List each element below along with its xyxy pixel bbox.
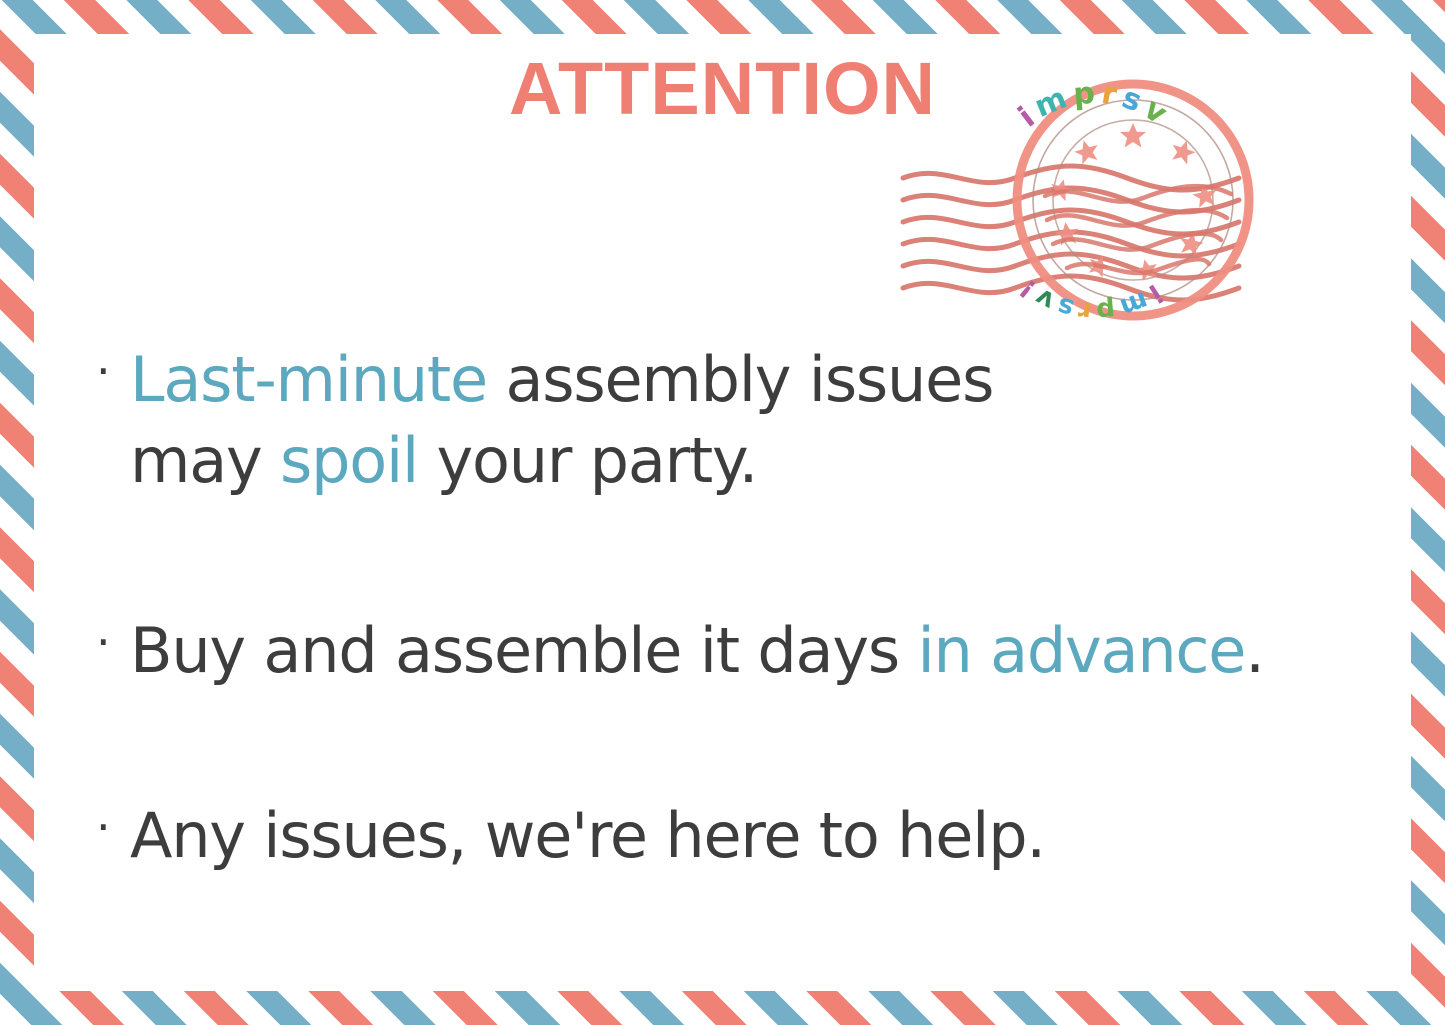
bullet-marker: ·: [96, 611, 130, 673]
body-phrase: Any issues, we're here to help.: [130, 799, 1045, 872]
bullet-marker: ·: [96, 796, 130, 858]
body-phrase: Buy and assemble it days: [130, 614, 917, 687]
body-phrase: may: [130, 424, 280, 497]
bullet-text-buy-in-advance: Buy and assemble it days in advance.: [130, 611, 1385, 692]
highlighted-phrase: Last-minute: [130, 343, 487, 416]
card-content: ATTENTION: [0, 0, 1445, 1025]
bullet-line: may spoil your party.: [130, 421, 1385, 502]
body-phrase: .: [1245, 614, 1264, 687]
highlighted-phrase: spoil: [280, 424, 418, 497]
highlighted-phrase: in advance: [917, 614, 1245, 687]
bullet-line: Any issues, we're here to help.: [130, 796, 1385, 877]
bullet-marker: ·: [96, 340, 130, 402]
body-phrase: your party.: [418, 424, 757, 497]
bullet-list: · Last-minute assembly issuesmay spoil y…: [96, 340, 1385, 876]
bullet-line: Buy and assemble it days in advance.: [130, 611, 1385, 692]
bullet-text-here-to-help: Any issues, we're here to help.: [130, 796, 1385, 877]
attention-notice-card: ATTENTION: [0, 0, 1445, 1025]
postal-stamp-graphic: imprsv imprsv!: [895, 78, 1365, 328]
postal-stamp: imprsv imprsv!: [895, 78, 1365, 328]
body-phrase: assembly issues: [487, 343, 993, 416]
list-item: · Buy and assemble it days in advance.: [96, 611, 1385, 692]
list-item: · Any issues, we're here to help.: [96, 796, 1385, 877]
list-item: · Last-minute assembly issuesmay spoil y…: [96, 340, 1385, 501]
bullet-line: Last-minute assembly issues: [130, 340, 1385, 421]
bullet-text-last-minute: Last-minute assembly issuesmay spoil you…: [130, 340, 1385, 501]
